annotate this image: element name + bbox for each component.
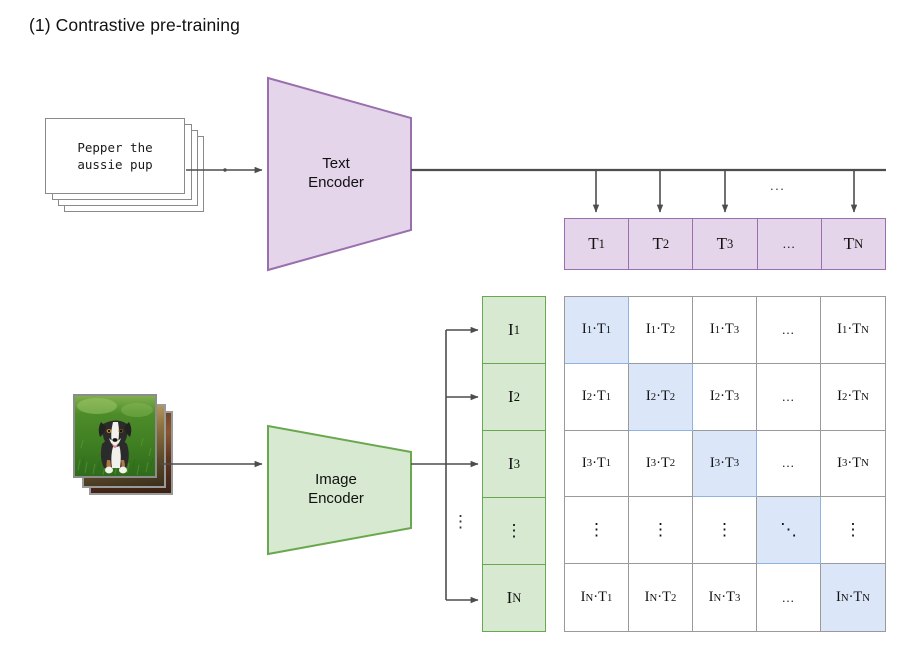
image-embedding-cell[interactable]: I2 xyxy=(483,364,545,431)
image-embedding-cell[interactable]: I3 xyxy=(483,431,545,498)
similarity-term-base: T xyxy=(726,589,735,606)
similarity-matrix: I1·T1I1·T2I1·T3...I1·TNI2·T1I2·T2I2·T3..… xyxy=(564,296,886,632)
similarity-cell[interactable]: IN·T2 xyxy=(629,564,693,631)
image-embedding-sub: 1 xyxy=(514,323,520,338)
similarity-term-sub: N xyxy=(861,391,869,403)
similarity-term-base: T xyxy=(598,589,607,606)
image-embedding-sub: N xyxy=(512,591,521,606)
similarity-term-sub: N xyxy=(861,324,869,336)
text-embedding-row: T1 T2 T3 … TN xyxy=(564,218,886,270)
text-encoder-label: Text Encoder xyxy=(266,76,414,270)
similarity-term-sub: 3 xyxy=(734,391,739,403)
text-embedding-base: T xyxy=(717,234,727,254)
similarity-term-base: T xyxy=(853,589,862,606)
image-embedding-sub: 2 xyxy=(514,390,520,405)
similarity-cell[interactable]: IN·T1 xyxy=(565,564,629,631)
figure-canvas: (1) Contrastive pre-training Pepper the … xyxy=(0,0,906,654)
puppy-photo-illustration xyxy=(75,396,155,476)
similarity-term-sub: 3 xyxy=(734,457,739,469)
image-encoder-label-line2: Encoder xyxy=(308,489,364,508)
figure-title: (1) Contrastive pre-training xyxy=(29,15,240,36)
similarity-term-base: T xyxy=(597,388,606,405)
image-card-front-puppy-photo xyxy=(73,394,157,478)
similarity-cell[interactable]: I2·T1 xyxy=(565,364,629,431)
similarity-cell-ellipsis[interactable]: ⋮ xyxy=(821,497,885,564)
similarity-cell-ellipsis[interactable]: ⋮ xyxy=(693,497,757,564)
text-embedding-base: T xyxy=(588,234,598,254)
similarity-term-base: T xyxy=(725,388,734,405)
similarity-cell[interactable]: I1·T1 xyxy=(565,297,629,364)
similarity-cell[interactable]: I2·T2 xyxy=(629,364,693,431)
similarity-term-sub: N xyxy=(714,592,722,604)
similarity-cell[interactable]: I3·TN xyxy=(821,431,885,498)
text-embedding-cell-ellipsis[interactable]: … xyxy=(758,219,822,269)
image-embedding-base: ⋮ xyxy=(506,521,523,541)
similarity-term-base: T xyxy=(725,455,734,472)
similarity-cell[interactable]: I1·T3 xyxy=(693,297,757,364)
similarity-term-sub: 2 xyxy=(670,391,675,403)
similarity-term-sub: 1 xyxy=(606,391,611,403)
caption-text: Pepper the aussie pup xyxy=(45,118,185,194)
caption-line-2: aussie pup xyxy=(77,156,152,173)
similarity-term-base: T xyxy=(852,321,861,338)
similarity-cell[interactable]: I1·T2 xyxy=(629,297,693,364)
similarity-cell-ellipsis[interactable]: ... xyxy=(757,297,821,364)
image-embedding-cell-ellipsis[interactable]: ⋮ xyxy=(483,498,545,565)
similarity-cell-ellipsis[interactable]: ... xyxy=(757,564,821,631)
similarity-cell-text: ⋱ xyxy=(780,520,797,540)
similarity-cell[interactable]: I2·TN xyxy=(821,364,885,431)
similarity-cell-ellipsis[interactable]: ⋮ xyxy=(629,497,693,564)
text-embedding-sub: N xyxy=(854,237,863,252)
similarity-cell-text: ⋮ xyxy=(716,520,733,540)
similarity-term-sub: N xyxy=(650,592,658,604)
image-embedding-sub: 3 xyxy=(514,457,520,472)
text-embedding-base: … xyxy=(782,236,796,252)
image-fanout-vertical-dots: ⋮ xyxy=(452,512,469,532)
similarity-term-sub: N xyxy=(586,592,594,604)
similarity-term-sub: 1 xyxy=(607,592,612,604)
text-encoder-label-line1: Text xyxy=(322,154,350,173)
similarity-cell-ellipsis[interactable]: ⋱ xyxy=(757,497,821,564)
similarity-term-sub: N xyxy=(861,457,869,469)
similarity-term-base: T xyxy=(662,589,671,606)
similarity-term-base: T xyxy=(852,455,861,472)
similarity-cell[interactable]: IN·TN xyxy=(821,564,885,631)
similarity-cell[interactable]: I2·T3 xyxy=(693,364,757,431)
similarity-cell-text: ... xyxy=(782,455,795,471)
text-embedding-sub: 1 xyxy=(599,237,605,252)
image-embedding-cell[interactable]: I1 xyxy=(483,297,545,364)
similarity-term-sub: 2 xyxy=(670,457,675,469)
text-embedding-sub: 3 xyxy=(727,237,733,252)
similarity-term-sub: 2 xyxy=(671,592,676,604)
similarity-cell[interactable]: I1·TN xyxy=(821,297,885,364)
text-embedding-cell[interactable]: T3 xyxy=(693,219,757,269)
similarity-term-base: T xyxy=(597,321,606,338)
text-embedding-sub: 2 xyxy=(663,237,669,252)
similarity-cell[interactable]: I3·T3 xyxy=(693,431,757,498)
image-embedding-cell[interactable]: IN xyxy=(483,565,545,631)
similarity-cell-text: ... xyxy=(782,590,795,606)
similarity-cell-text: ... xyxy=(782,389,795,405)
similarity-cell-text: ... xyxy=(782,322,795,338)
text-encoder-label-line2: Encoder xyxy=(308,173,364,192)
text-embedding-cell[interactable]: T2 xyxy=(629,219,693,269)
text-embedding-cell[interactable]: TN xyxy=(822,219,885,269)
similarity-term-base: T xyxy=(852,388,861,405)
similarity-term-base: T xyxy=(661,455,670,472)
similarity-term-sub: 1 xyxy=(606,457,611,469)
similarity-term-sub: N xyxy=(862,592,870,604)
image-embedding-column: I1 I2 I3 ⋮ IN xyxy=(482,296,546,632)
caption-line-1: Pepper the xyxy=(77,139,152,156)
similarity-term-sub: 2 xyxy=(670,324,675,336)
similarity-term-sub: 1 xyxy=(606,324,611,336)
similarity-cell-ellipsis[interactable]: ⋮ xyxy=(565,497,629,564)
text-embedding-base: T xyxy=(652,234,662,254)
similarity-cell-text: ⋮ xyxy=(845,520,862,540)
similarity-cell[interactable]: I3·T2 xyxy=(629,431,693,498)
similarity-cell-text: ⋮ xyxy=(588,520,605,540)
similarity-term-base: T xyxy=(661,321,670,338)
similarity-cell-ellipsis[interactable]: ... xyxy=(757,431,821,498)
similarity-cell[interactable]: I3·T1 xyxy=(565,431,629,498)
t-row-arrow-ellipsis: ... xyxy=(770,178,785,193)
similarity-term-sub: 3 xyxy=(734,324,739,336)
similarity-cell-ellipsis[interactable]: ... xyxy=(757,364,821,431)
similarity-term-base: T xyxy=(725,321,734,338)
similarity-term-base: T xyxy=(597,455,606,472)
similarity-cell-text: ⋮ xyxy=(652,520,669,540)
similarity-term-base: T xyxy=(661,388,670,405)
image-encoder-label-line1: Image xyxy=(315,470,357,489)
similarity-cell[interactable]: IN·T3 xyxy=(693,564,757,631)
similarity-term-sub: 3 xyxy=(735,592,740,604)
similarity-term-sub: N xyxy=(841,592,849,604)
text-embedding-cell[interactable]: T1 xyxy=(565,219,629,269)
image-encoder-label: Image Encoder xyxy=(266,424,414,554)
text-embedding-base: T xyxy=(844,234,854,254)
